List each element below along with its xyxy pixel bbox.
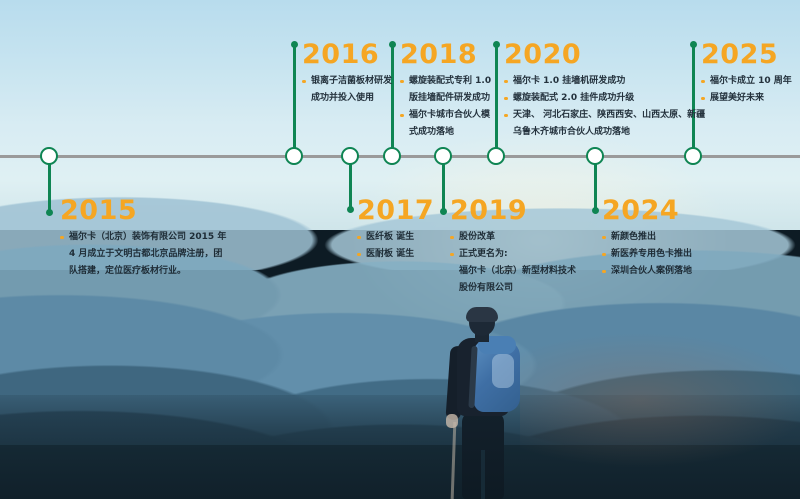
timeline-dot-2016 — [291, 41, 298, 48]
hiker-hat — [466, 307, 498, 322]
bullet-item: 福尔卡 1.0 挂墙机研发成功 — [504, 74, 705, 88]
milestone-2016: 2016 银离子洁菌板材研发 成功并投入使用 — [302, 40, 392, 108]
backpack-panel — [492, 354, 514, 388]
bullet-item: 福尔卡城市合伙人模 — [400, 108, 491, 122]
trekking-pole — [451, 422, 457, 499]
bullet-item: 医纤板 诞生 — [357, 230, 434, 244]
bullet-item: 正式更名为: — [450, 247, 576, 261]
milestone-year-2019: 2019 — [450, 196, 576, 226]
milestone-bullets-2025: 福尔卡成立 10 周年 展望美好未来 — [701, 74, 792, 105]
milestone-year-2020: 2020 — [504, 40, 705, 70]
milestone-bullets-2016: 银离子洁菌板材研发 成功并投入使用 — [302, 74, 392, 105]
milestone-year-2025: 2025 — [701, 40, 792, 70]
bullet-item-cont: 式成功落地 — [400, 125, 491, 139]
timeline-dot-2024 — [592, 207, 599, 214]
bullet-item: 福尔卡成立 10 周年 — [701, 74, 792, 88]
timeline-stem-2019 — [442, 164, 445, 211]
bullet-item: 螺旋装配式专利 1.0 — [400, 74, 491, 88]
timeline-node-2025[interactable] — [684, 147, 702, 165]
timeline-stem-2017 — [349, 164, 352, 209]
timeline-node-2018[interactable] — [383, 147, 401, 165]
timeline-node-2020[interactable] — [487, 147, 505, 165]
bullet-item: 深圳合伙人案例落地 — [602, 264, 692, 278]
milestone-2015: 2015 福尔卡（北京）装饰有限公司 2015 年 4 月成立于文明古都北京品牌… — [60, 196, 226, 281]
timeline-dot-2017 — [347, 206, 354, 213]
warm-light-patch — [520, 330, 800, 470]
milestone-2017: 2017 医纤板 诞生 医耐板 诞生 — [357, 196, 434, 264]
milestone-2020: 2020 福尔卡 1.0 挂墙机研发成功 螺旋装配式 2.0 挂件成功升级 天津… — [504, 40, 705, 142]
bullet-item: 股份改革 — [450, 230, 576, 244]
milestone-bullets-2015: 福尔卡（北京）装饰有限公司 2015 年 4 月成立于文明古都北京品牌注册，团 … — [60, 230, 226, 278]
bullet-item: 医耐板 诞生 — [357, 247, 434, 261]
milestone-2018: 2018 螺旋装配式专利 1.0 版挂墙配件研发成功 福尔卡城市合伙人模 式成功… — [400, 40, 491, 142]
milestone-bullets-2024: 新颜色推出 新医养专用色卡推出 深圳合伙人案例落地 — [602, 230, 692, 278]
bullet-item-cont: 版挂墙配件研发成功 — [400, 91, 491, 105]
milestone-2024: 2024 新颜色推出 新医养专用色卡推出 深圳合伙人案例落地 — [602, 196, 692, 281]
timeline-dot-2019 — [440, 208, 447, 215]
timeline-node-2019[interactable] — [434, 147, 452, 165]
milestone-year-2016: 2016 — [302, 40, 392, 70]
timeline-stem-2015 — [48, 164, 51, 212]
milestone-bullets-2020: 福尔卡 1.0 挂墙机研发成功 螺旋装配式 2.0 挂件成功升级 天津、 河北石… — [504, 74, 705, 139]
milestone-year-2024: 2024 — [602, 196, 692, 226]
timeline-node-2024[interactable] — [586, 147, 604, 165]
bullet-item-cont: 股份有限公司 — [450, 281, 576, 295]
milestone-year-2015: 2015 — [60, 196, 226, 226]
timeline-stem-2024 — [594, 164, 597, 210]
bullet-item: 银离子洁菌板材研发 — [302, 74, 392, 88]
milestone-2025: 2025 福尔卡成立 10 周年 展望美好未来 — [701, 40, 792, 108]
bullet-item: 天津、 河北石家庄、陕西西安、山西太原、新疆 — [504, 108, 705, 122]
bullet-item: 新颜色推出 — [602, 230, 692, 244]
timeline-stem-2016 — [293, 44, 296, 149]
timeline-node-2017[interactable] — [341, 147, 359, 165]
bullet-item-cont: 4 月成立于文明古都北京品牌注册，团 — [60, 247, 226, 261]
bullet-item-cont: 乌鲁木齐城市合伙人成功落地 — [504, 125, 705, 139]
timeline-stem-2020 — [495, 44, 498, 149]
timeline-dot-2020 — [493, 41, 500, 48]
bullet-item: 螺旋装配式 2.0 挂件成功升级 — [504, 91, 705, 105]
bullet-item-cont: 成功并投入使用 — [302, 91, 392, 105]
bullet-item: 福尔卡（北京）装饰有限公司 2015 年 — [60, 230, 226, 244]
timeline-infographic: 2015 福尔卡（北京）装饰有限公司 2015 年 4 月成立于文明古都北京品牌… — [0, 0, 800, 499]
milestone-year-2017: 2017 — [357, 196, 434, 226]
bullet-item: 展望美好未来 — [701, 91, 792, 105]
milestone-bullets-2019: 股份改革 正式更名为: 福尔卡（北京）新型材料技术 股份有限公司 — [450, 230, 576, 295]
bullet-item-cont: 队搭建，定位医疗板材行业。 — [60, 264, 226, 278]
bullet-item: 新医养专用色卡推出 — [602, 247, 692, 261]
timeline-node-2016[interactable] — [285, 147, 303, 165]
timeline-node-2015[interactable] — [40, 147, 58, 165]
milestone-year-2018: 2018 — [400, 40, 491, 70]
bullet-item-cont: 福尔卡（北京）新型材料技术 — [450, 264, 576, 278]
milestone-2019: 2019 股份改革 正式更名为: 福尔卡（北京）新型材料技术 股份有限公司 — [450, 196, 576, 298]
hiker-leg-gap — [481, 450, 485, 499]
hiker-figure — [432, 310, 552, 499]
timeline-dot-2015 — [46, 209, 53, 216]
hiker-hand — [446, 414, 458, 428]
milestone-bullets-2018: 螺旋装配式专利 1.0 版挂墙配件研发成功 福尔卡城市合伙人模 式成功落地 — [400, 74, 491, 139]
milestone-bullets-2017: 医纤板 诞生 医耐板 诞生 — [357, 230, 434, 261]
